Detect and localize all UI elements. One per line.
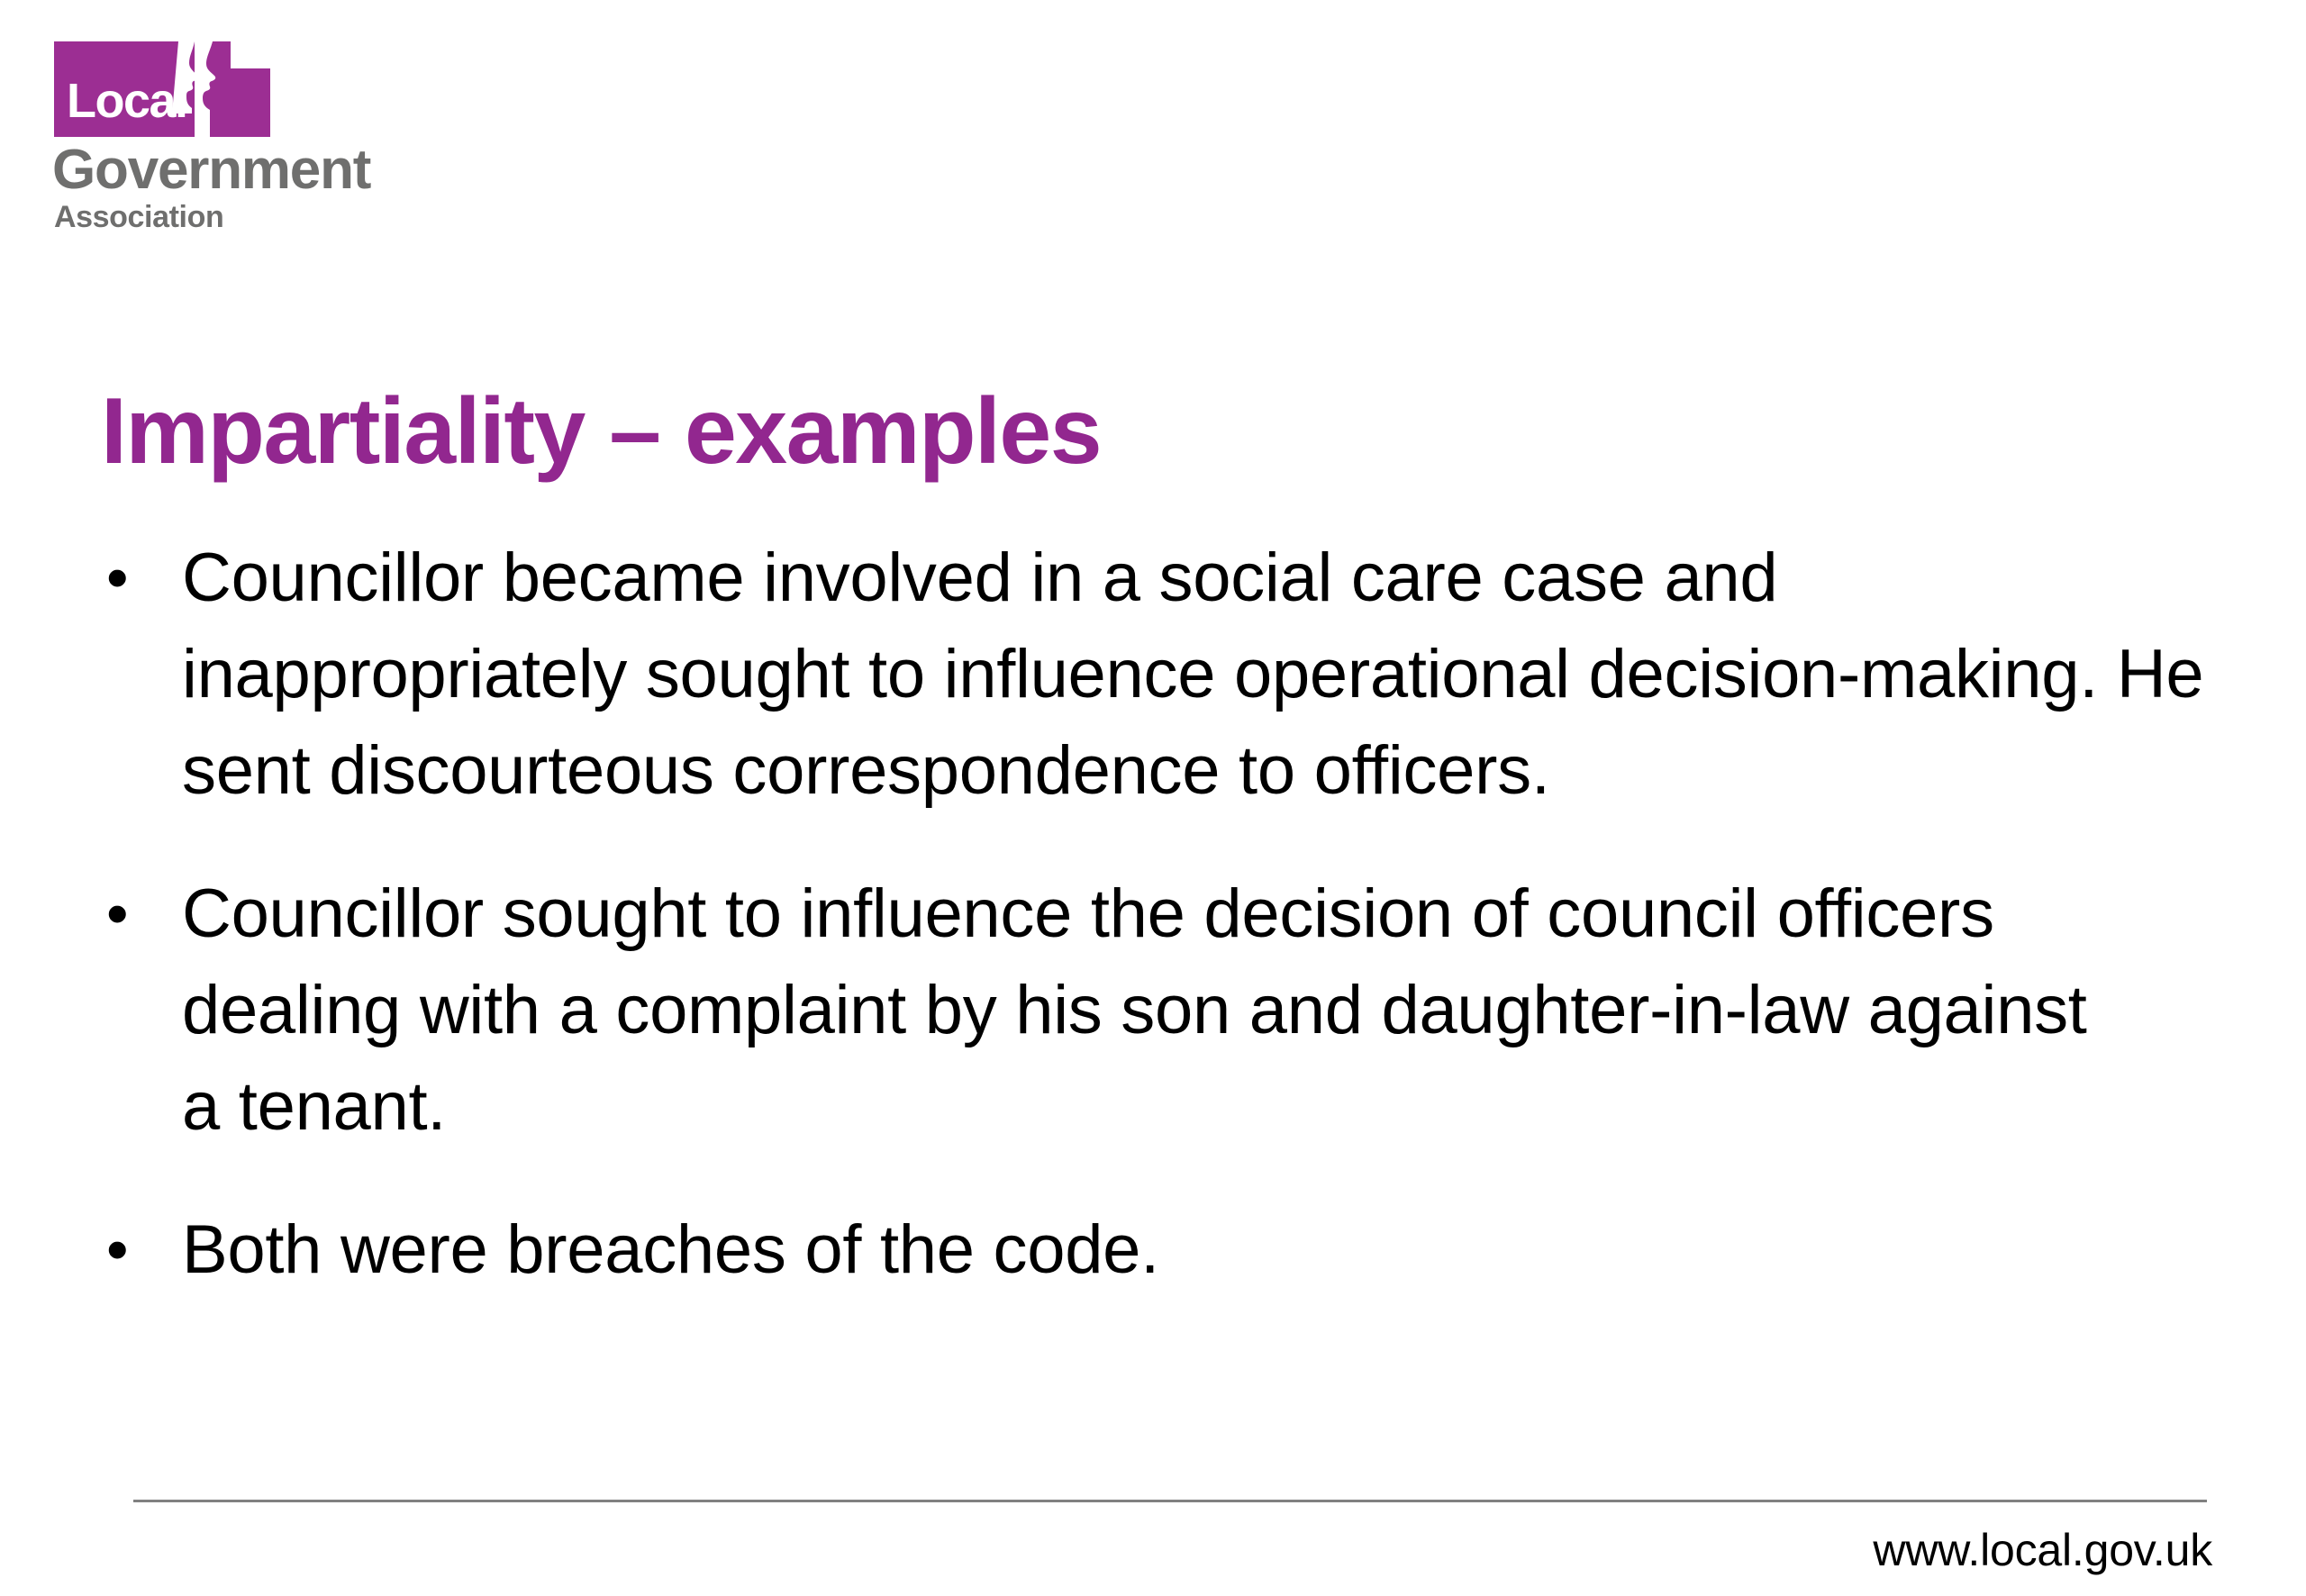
bullet-list: • Councillor became involved in a social… [99, 530, 2225, 1345]
list-item: • Councillor became involved in a social… [99, 530, 2225, 819]
bullet-marker-icon: • [99, 1202, 182, 1298]
svg-text:Local: Local [67, 74, 187, 128]
list-item: • Both were breaches of the code. [99, 1202, 2225, 1298]
logo-word-government: Government [52, 142, 370, 198]
bullet-marker-icon: • [99, 530, 182, 626]
footer-divider [133, 1500, 2207, 1502]
bullet-marker-icon: • [99, 866, 182, 962]
logo-mark-local-icon: Local [52, 36, 270, 142]
list-item-text: Both were breaches of the code. [182, 1202, 2209, 1298]
footer-website-url: www.local.gov.uk [1873, 1524, 2212, 1576]
slide-title: Impartiality – examples [101, 376, 1101, 487]
logo-word-association: Association [54, 202, 223, 232]
list-item: • Councillor sought to influence the dec… [99, 866, 2225, 1155]
slide-canvas: Local Government Association Impartialit… [0, 0, 2306, 1596]
list-item-text: Councillor became involved in a social c… [182, 530, 2209, 819]
list-item-text: Councillor sought to influence the decis… [182, 866, 2101, 1155]
lga-logo: Local Government Association [52, 36, 431, 252]
